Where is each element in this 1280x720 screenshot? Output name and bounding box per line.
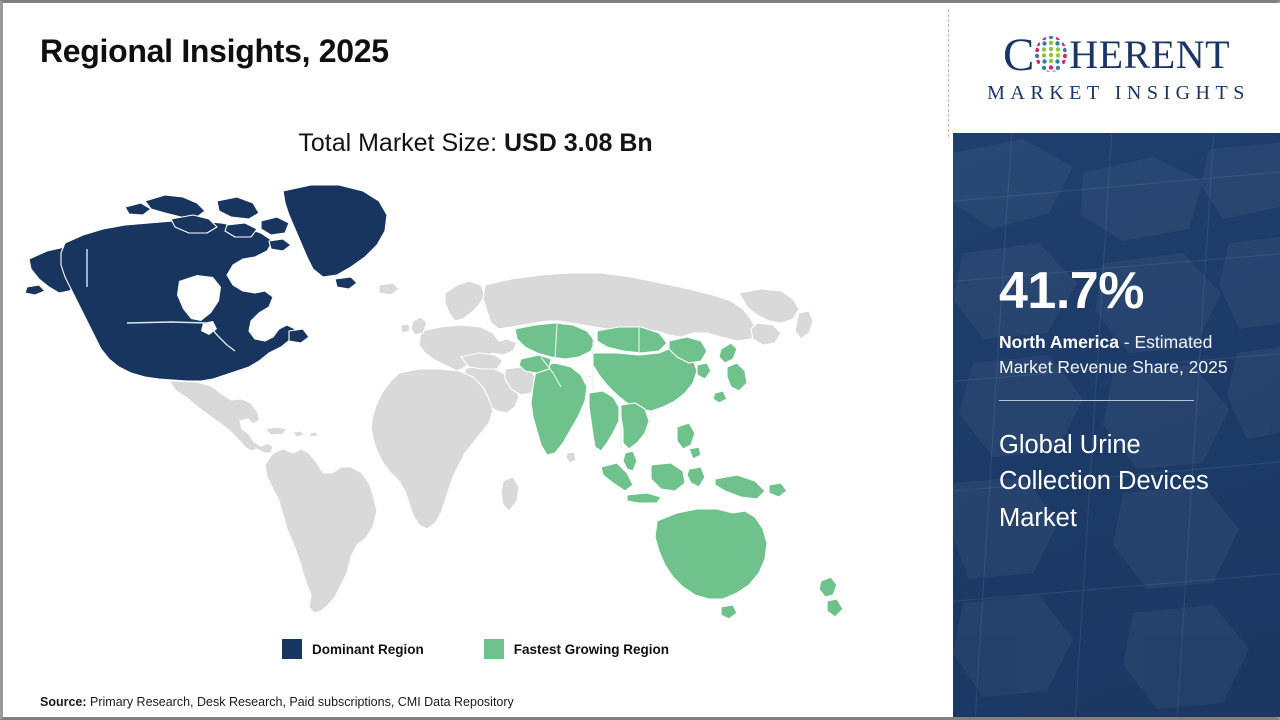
logo-subtitle: MARKET INSIGHTS (987, 82, 1250, 105)
left-content-pane: Regional Insights, 2025 Total Market Siz… (3, 3, 948, 717)
map-region-asia-pacific (515, 323, 843, 619)
page-title: Regional Insights, 2025 (40, 33, 389, 70)
map-legend: Dominant Region Fastest Growing Region (3, 639, 948, 659)
stat-panel: 41.7% North America - Estimated Market R… (953, 133, 1280, 717)
share-percentage: 41.7% (999, 265, 1246, 317)
world-map-svg (21, 181, 901, 621)
brand-logo: C (953, 3, 1280, 133)
legend-swatch-navy-icon (282, 639, 302, 659)
world-map (21, 181, 901, 621)
legend-item-fastest-growing: Fastest Growing Region (484, 639, 669, 659)
source-text: Primary Research, Desk Research, Paid su… (87, 695, 514, 709)
legend-item-dominant: Dominant Region (282, 639, 424, 659)
infographic-frame: Regional Insights, 2025 Total Market Siz… (0, 0, 1280, 720)
vertical-dashed-divider (948, 9, 949, 137)
logo-letter-c: C (1003, 32, 1034, 79)
legend-label-dominant: Dominant Region (312, 642, 424, 657)
source-label: Source: (40, 695, 87, 709)
market-size-label: Total Market Size: (298, 129, 504, 157)
legend-label-fastest-growing: Fastest Growing Region (514, 642, 669, 657)
source-note: Source: Primary Research, Desk Research,… (40, 695, 514, 709)
share-description: North America - Estimated Market Revenue… (999, 330, 1246, 380)
total-market-size: Total Market Size: USD 3.08 Bn (3, 129, 948, 158)
market-report-title: Global Urine Collection Devices Market (999, 427, 1246, 537)
legend-swatch-green-icon (484, 639, 504, 659)
share-region-name: North America (999, 332, 1119, 352)
panel-divider-rule (999, 400, 1194, 401)
stat-panel-content: 41.7% North America - Estimated Market R… (953, 133, 1280, 537)
coherent-globe-icon (1034, 35, 1068, 73)
logo-word-coherent: HERENT (1069, 35, 1230, 75)
logo-wordmark: C (1003, 31, 1230, 79)
market-size-value: USD 3.08 Bn (504, 129, 653, 157)
